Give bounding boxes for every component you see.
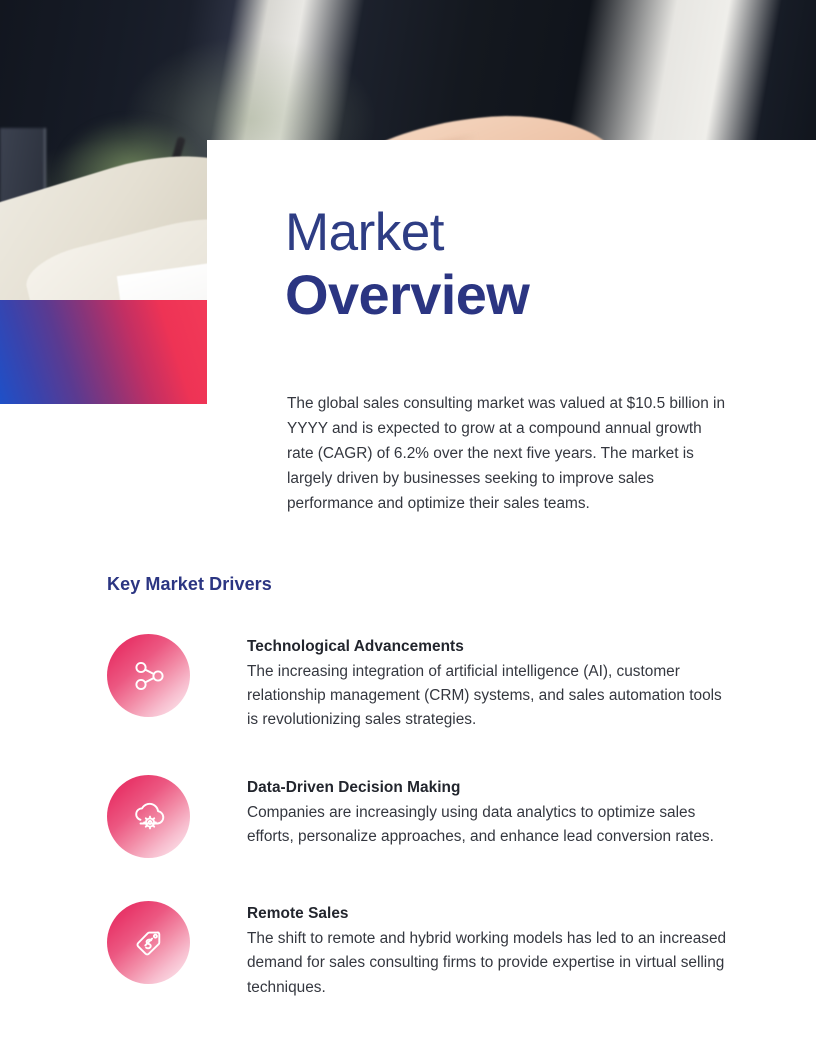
driver-title: Remote Sales [247,904,737,925]
title-line-1: Market [285,206,765,259]
title-line-2: Overview [285,265,765,324]
driver-text-block: Remote Sales The shift to remote and hyb… [247,899,737,999]
driver-body: Companies are increasingly using data an… [247,801,737,849]
driver-body: The shift to remote and hybrid working m… [247,927,737,1000]
share-network-icon [107,634,190,717]
driver-item: Remote Sales The shift to remote and hyb… [107,899,747,999]
gradient-accent-block [0,300,207,404]
driver-item: Data-Driven Decision Making Companies ar… [107,773,747,858]
page-title: Market Overview [285,206,765,324]
key-market-drivers-list: Technological Advancements The increasin… [107,632,747,1000]
intro-paragraph: The global sales consulting market was v… [287,392,730,517]
driver-title: Technological Advancements [247,637,737,658]
document-page: Market Overview The global sales consult… [0,0,816,1056]
section-heading-key-market-drivers: Key Market Drivers [107,574,272,595]
driver-body: The increasing integration of artificial… [247,660,737,733]
driver-item: Technological Advancements The increasin… [107,632,747,732]
driver-text-block: Data-Driven Decision Making Companies ar… [247,773,737,849]
cloud-gear-icon [107,775,190,858]
price-tag-dollar-icon [107,901,190,984]
driver-text-block: Technological Advancements The increasin… [247,632,737,732]
driver-title: Data-Driven Decision Making [247,778,737,799]
